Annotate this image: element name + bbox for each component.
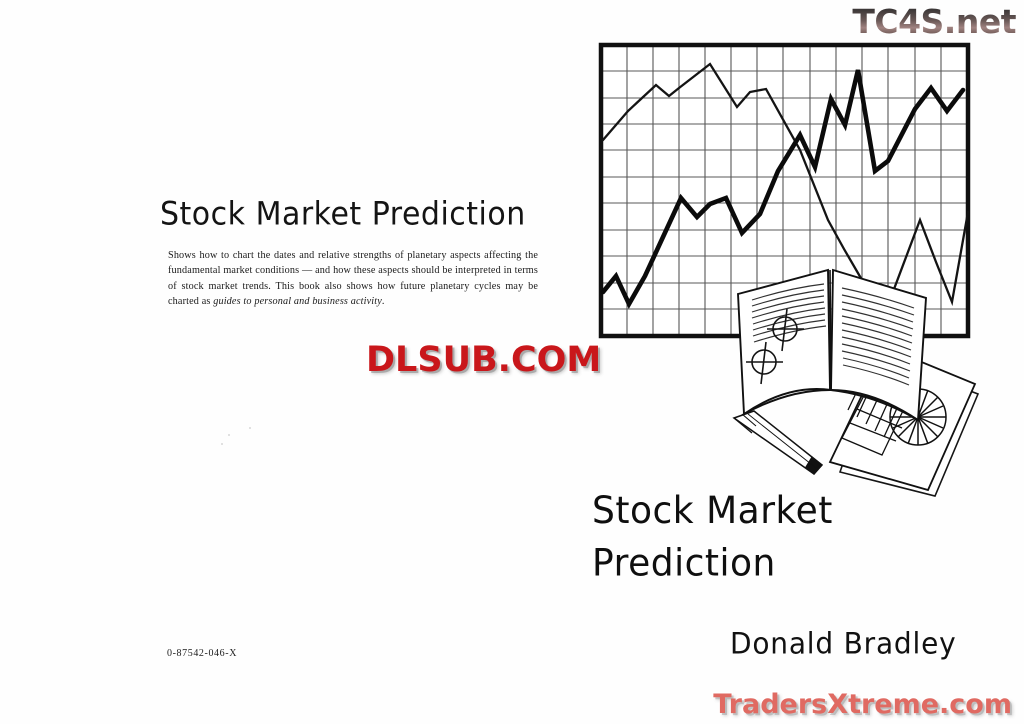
- open-book-icon: [738, 270, 926, 420]
- front-title-line-1: Stock Market: [592, 489, 833, 532]
- scan-speck: [249, 427, 251, 429]
- watermark-tc4s: TC4S.net: [852, 2, 1016, 41]
- book-illustration: [730, 262, 990, 497]
- blurb-text-part2: .: [382, 296, 385, 307]
- scan-speck: [221, 443, 223, 445]
- front-title-line-2: Prediction: [592, 538, 1012, 591]
- scan-speck: [228, 434, 230, 436]
- back-cover-title: Stock Market Prediction: [160, 196, 550, 233]
- front-cover-author: Donald Bradley: [730, 626, 956, 661]
- book-illustration-svg: [730, 262, 990, 497]
- back-cover-blurb: Shows how to chart the dates and relativ…: [168, 248, 538, 310]
- book-cover-scan: Stock Market Prediction Shows how to cha…: [0, 0, 1024, 724]
- watermark-dlsub: DLSUB.COM: [366, 340, 601, 380]
- isbn-number: 0-87542-046-X: [167, 648, 237, 659]
- pencil-icon: [734, 411, 822, 474]
- front-cover-panel: Stock Market Prediction Donald Bradley: [560, 0, 1024, 724]
- watermark-tradersxtreme: TradersXtreme.com: [713, 689, 1012, 720]
- front-cover-title: Stock Market Prediction: [592, 485, 1012, 590]
- blurb-text-emphasis: guides to personal and business activity: [213, 296, 382, 307]
